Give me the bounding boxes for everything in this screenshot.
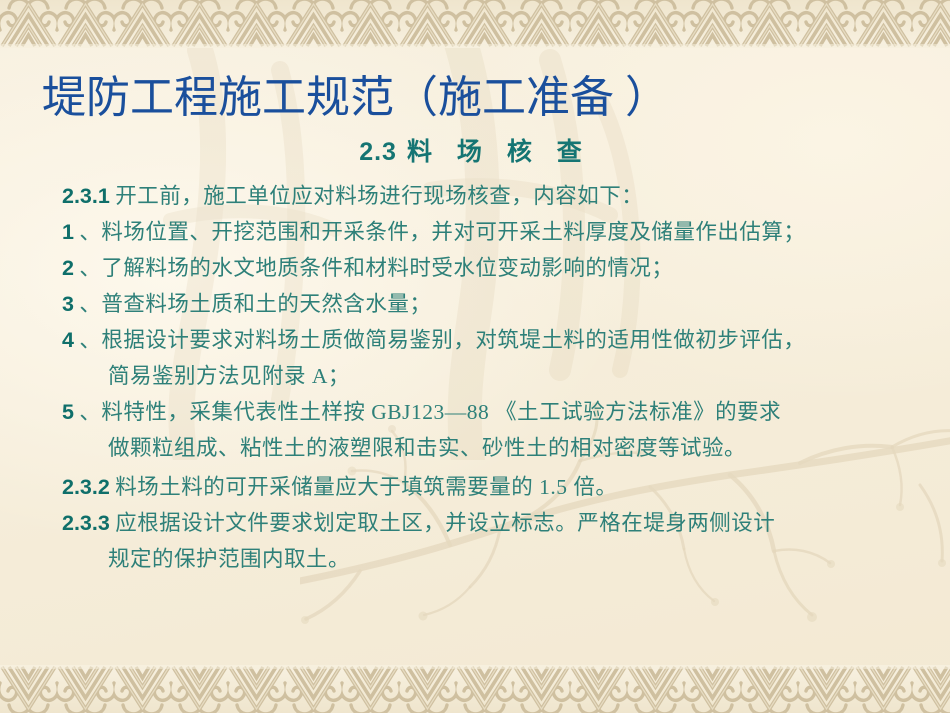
line-marker: 2 xyxy=(62,256,74,280)
section-heading: 2.3料 场 核 查 xyxy=(0,136,950,168)
line-text: 料场土料的可开采储量应大于填筑需要量的 1.5 倍。 xyxy=(115,475,617,499)
line-marker: 2.3.3 xyxy=(62,511,110,535)
body-content: 2.3.1 开工前，施工单位应对料场进行现场核查，内容如下： 1 、料场位置、开… xyxy=(62,178,922,577)
body-line: 3 、普查料场土质和土的天然含水量； xyxy=(62,286,922,322)
body-line: 5 、料特性，采集代表性土样按 GBJ123—88 《土工试验方法标准》的要求 xyxy=(62,394,922,430)
line-marker: 2.3.2 xyxy=(62,475,110,499)
line-text: 开工前，施工单位应对料场进行现场核查，内容如下： xyxy=(115,184,643,208)
line-text: 、根据设计要求对料场土质做简易鉴别，对筑堤土料的适用性做初步评估， xyxy=(79,328,805,352)
presentation-slide: 堤防工程施工规范（施工准备 ） 2.3料 场 核 查 2.3.1 开工前，施工单… xyxy=(0,0,950,713)
body-line-continuation: 规定的保护范围内取土。 xyxy=(62,541,922,577)
line-text: 、料场位置、开挖范围和开采条件，并对可开采土料厚度及储量作出估算； xyxy=(79,220,805,244)
line-text: 、料特性，采集代表性土样按 GBJ123—88 《土工试验方法标准》的要求 xyxy=(79,400,781,424)
line-text: 做颗粒组成、粘性土的液塑限和击实、砂性土的相对密度等试验。 xyxy=(108,436,746,460)
line-marker: 2.3.1 xyxy=(62,184,110,208)
section-number: 2.3 xyxy=(359,138,397,166)
line-marker: 1 xyxy=(62,220,74,244)
body-line: 4 、根据设计要求对料场土质做简易鉴别，对筑堤土料的适用性做初步评估， xyxy=(62,322,922,358)
line-marker: 4 xyxy=(62,328,74,352)
line-text: 应根据设计文件要求划定取土区，并设立标志。严格在堤身两侧设计 xyxy=(115,511,775,535)
body-line: 1 、料场位置、开挖范围和开采条件，并对可开采土料厚度及储量作出估算； xyxy=(62,214,922,250)
line-marker: 5 xyxy=(62,400,74,424)
body-line-continuation: 简易鉴别方法见附录 A； xyxy=(62,358,922,394)
line-text: 简易鉴别方法见附录 A； xyxy=(108,364,350,388)
line-text: 、了解料场的水文地质条件和材料时受水位变动影响的情况； xyxy=(79,256,673,280)
body-line: 2 、了解料场的水文地质条件和材料时受水位变动影响的情况； xyxy=(62,250,922,286)
body-line: 2.3.3 应根据设计文件要求划定取土区，并设立标志。严格在堤身两侧设计 xyxy=(62,505,922,541)
page-title: 堤防工程施工规范（施工准备 ） xyxy=(42,72,922,124)
body-line: 2.3.2 料场土料的可开采储量应大于填筑需要量的 1.5 倍。 xyxy=(62,469,922,505)
line-text: 、普查料场土质和土的天然含水量； xyxy=(79,292,431,316)
body-line: 2.3.1 开工前，施工单位应对料场进行现场核查，内容如下： xyxy=(62,178,922,214)
section-label: 料 场 核 查 xyxy=(407,138,591,166)
line-marker: 3 xyxy=(62,292,74,316)
line-text: 规定的保护范围内取土。 xyxy=(108,547,350,571)
body-line-continuation: 做颗粒组成、粘性土的液塑限和击实、砂性土的相对密度等试验。 xyxy=(62,430,922,466)
